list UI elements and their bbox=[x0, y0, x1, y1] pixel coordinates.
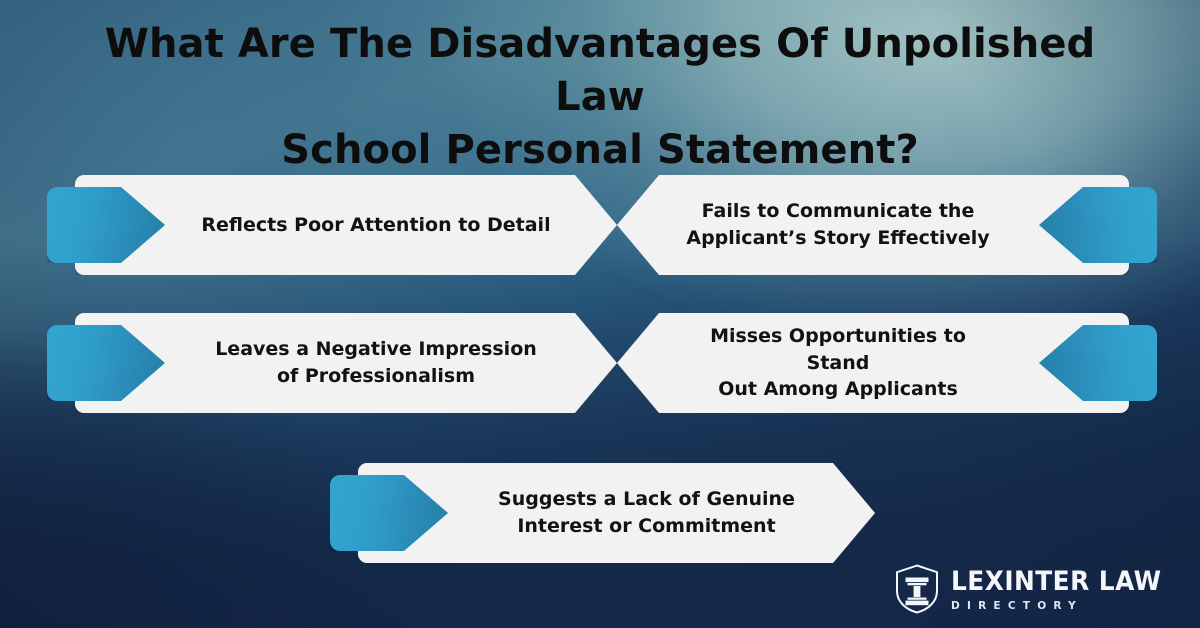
shield-column-icon bbox=[894, 564, 940, 614]
logo-tagline: DIRECTORY bbox=[951, 600, 1171, 611]
item-row-3: Suggests a Lack of Genuine Interest or C… bbox=[0, 453, 1200, 573]
item-card-fails-to-communicate[interactable]: Fails to Communicate the Applicant’s Sto… bbox=[617, 165, 1157, 285]
card-label: Leaves a Negative Impression of Professi… bbox=[187, 313, 565, 413]
card-label: Fails to Communicate the Applicant’s Sto… bbox=[669, 175, 1007, 275]
item-card-lack-of-genuine-interest[interactable]: Suggests a Lack of Genuine Interest or C… bbox=[330, 453, 875, 573]
page-title: What Are The Disadvantages Of Unpolished… bbox=[60, 18, 1140, 176]
item-card-misses-opportunities[interactable]: Misses Opportunities to Stand Out Among … bbox=[617, 303, 1157, 423]
card-label: Reflects Poor Attention to Detail bbox=[187, 175, 565, 275]
item-card-negative-impression[interactable]: Leaves a Negative Impression of Professi… bbox=[47, 303, 617, 423]
item-row-1: Reflects Poor Attention to Detail Fails … bbox=[0, 165, 1200, 285]
item-card-reflects-poor-attention[interactable]: Reflects Poor Attention to Detail bbox=[47, 165, 617, 285]
item-row-2: Leaves a Negative Impression of Professi… bbox=[0, 303, 1200, 423]
infographic-canvas: What Are The Disadvantages Of Unpolished… bbox=[0, 0, 1200, 628]
brand-logo[interactable]: LEXINTER LAW DIRECTORY bbox=[894, 564, 1180, 614]
card-label: Suggests a Lack of Genuine Interest or C… bbox=[470, 463, 823, 563]
logo-wordmark: LEXINTER LAW DIRECTORY bbox=[951, 568, 1180, 611]
logo-name: LEXINTER LAW bbox=[951, 568, 1162, 595]
card-label: Misses Opportunities to Stand Out Among … bbox=[669, 313, 1007, 413]
